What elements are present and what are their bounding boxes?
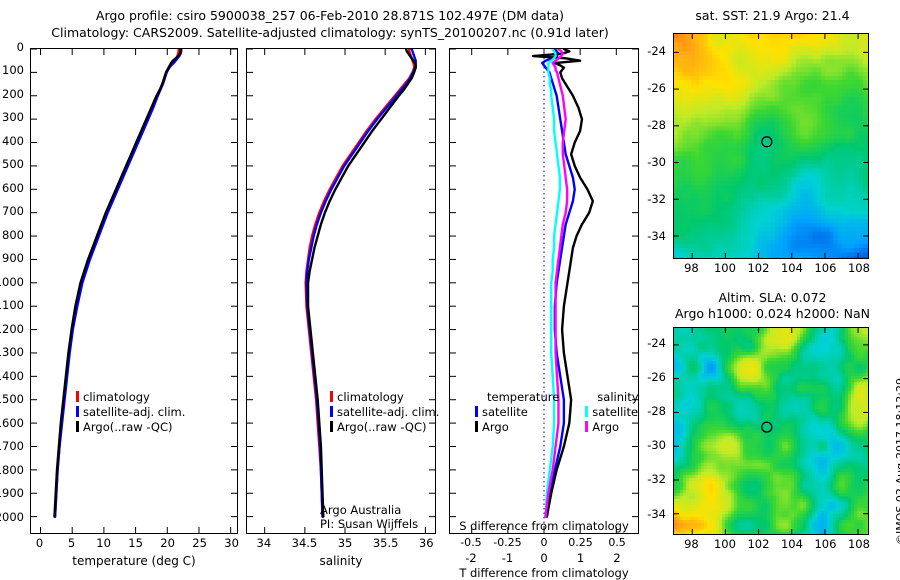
legend-color-swatch: [76, 391, 79, 402]
map-latitude-tick: -28: [647, 404, 666, 418]
temperature-axis-label: temperature (deg C): [30, 554, 238, 568]
depth-tick-label: 1500: [0, 392, 24, 406]
map-latitude-tick: -24: [647, 336, 666, 350]
depth-tick-label: 500: [2, 157, 24, 171]
map-longitude-tick: 108: [848, 261, 870, 275]
depth-tick-label: 700: [2, 204, 24, 218]
axis-tick-label: 35: [338, 536, 353, 550]
map-latitude-tick: -28: [647, 118, 666, 132]
legend-entry: Argo: [475, 420, 559, 435]
legend-entry: climatology: [330, 390, 439, 405]
axis-tick-label: -0.25: [493, 536, 521, 549]
legend-label: Argo: [482, 420, 509, 434]
map-longitude-tick: 106: [814, 261, 836, 275]
legend-color-swatch: [76, 421, 79, 432]
legend-label: satellite-adj. clim.: [83, 405, 185, 419]
depth-tick-label: 1800: [0, 463, 24, 477]
map-longitude-tick: 104: [781, 537, 803, 551]
axis-tick-label: 34: [257, 536, 272, 550]
sst-map-yaxis-ticks: -24-26-28-30-32-34: [640, 33, 671, 259]
legend-entry: satellite-adj. clim.: [76, 405, 185, 420]
legend-label: Argo: [592, 420, 619, 434]
argo-profile-figure: Argo profile: csiro 5900038_257 06-Feb-2…: [0, 0, 900, 580]
legend-entry: satellite: [585, 405, 638, 420]
depth-tick-label: 0: [17, 40, 24, 54]
depth-tick-label: 300: [2, 110, 24, 124]
legend-color-swatch: [585, 421, 588, 432]
axis-tick-label: 2: [613, 551, 620, 565]
depth-tick-label: 100: [2, 63, 24, 77]
legend-label: satellite-adj. clim.: [337, 405, 439, 419]
axis-tick-label: 35.5: [373, 536, 399, 550]
map-latitude-tick: -32: [647, 192, 666, 206]
sla-map[interactable]: [673, 327, 869, 535]
legend-group: salinitysatelliteArgo: [585, 390, 638, 435]
map-longitude-tick: 106: [814, 537, 836, 551]
map-latitude-tick: -34: [647, 507, 666, 521]
depth-tick-label: 1400: [0, 369, 24, 383]
depth-tick-label: 1600: [0, 416, 24, 430]
axis-tick-label: 36: [419, 536, 434, 550]
legend-label: satellite: [482, 405, 528, 419]
figure-title-line1: Argo profile: csiro 5900038_257 06-Feb-2…: [0, 8, 660, 23]
sla-map-xaxis-ticks: 98100102104106108: [673, 537, 869, 552]
axis-tick-label: 0: [36, 536, 43, 550]
legend-color-swatch: [475, 406, 478, 417]
axis-tick-label: 0.5: [608, 536, 626, 549]
axis-tick-label: 1: [577, 551, 584, 565]
temperature-legend: climatologysatellite-adj. clim.Argo(..ra…: [76, 390, 185, 435]
salinity-axis-label: salinity: [246, 554, 436, 568]
sst-map-title: sat. SST: 21.9 Argo: 21.4: [665, 8, 880, 23]
legend-color-swatch: [76, 406, 79, 417]
sla-map-yaxis-ticks: -24-26-28-30-32-34: [640, 327, 671, 535]
axis-tick-label: 0: [541, 536, 548, 549]
depth-tick-label: 1300: [0, 345, 24, 359]
map-longitude-tick: 102: [747, 537, 769, 551]
legend-label: Argo(..raw -QC): [83, 420, 173, 434]
attribution-line1: Argo Australia: [320, 503, 401, 517]
depth-tick-label: 2000: [0, 510, 24, 524]
depth-tick-label: 800: [2, 228, 24, 242]
depth-tick-label: 1200: [0, 322, 24, 336]
legend-label: climatology: [337, 390, 404, 404]
legend-color-swatch: [475, 421, 478, 432]
axis-tick-label: -1: [502, 551, 513, 565]
salinity-xaxis-ticks: 3434.53535.536: [246, 536, 436, 552]
axis-tick-label: 34.5: [292, 536, 318, 550]
legend-entry: satellite: [475, 405, 559, 420]
axis-tick-label: 0: [540, 551, 547, 565]
depth-tick-label: 1100: [0, 298, 24, 312]
legend-label: satellite: [592, 405, 638, 419]
map-longitude-tick: 108: [848, 537, 870, 551]
map-latitude-tick: -30: [647, 438, 666, 452]
depth-tick-label: 200: [2, 87, 24, 101]
map-latitude-tick: -26: [647, 81, 666, 95]
legend-label: Argo(..raw -QC): [337, 420, 427, 434]
axis-tick-label: 20: [160, 536, 175, 550]
map-latitude-tick: -26: [647, 370, 666, 384]
temperature-xaxis-ticks: 051015202530: [30, 536, 238, 552]
map-latitude-tick: -34: [647, 229, 666, 243]
legend-entry: Argo: [585, 420, 638, 435]
depth-tick-label: 1700: [0, 439, 24, 453]
axis-tick-label: 25: [192, 536, 207, 550]
axis-tick-label: 5: [68, 536, 75, 550]
legend-group: temperaturesatelliteArgo: [475, 390, 559, 435]
sst-map[interactable]: [673, 33, 869, 259]
map-longitude-tick: 104: [781, 261, 803, 275]
legend-entry: Argo(..raw -QC): [330, 420, 439, 435]
map-longitude-tick: 102: [747, 261, 769, 275]
attribution-line2: PI: Susan Wijffels: [320, 517, 418, 531]
salinity-panel[interactable]: [246, 48, 436, 534]
legend-color-swatch: [330, 406, 333, 417]
axis-tick-label: 15: [128, 536, 143, 550]
axis-tick-label: -2: [465, 551, 476, 565]
difference-temperature-axis-label: T difference from climatology: [441, 566, 647, 580]
depth-tick-label: 900: [2, 251, 24, 265]
temperature-yaxis-ticks: 0100200300400500600700800900100011001200…: [0, 48, 28, 534]
legend-color-swatch: [585, 406, 588, 417]
salinity-legend: climatologysatellite-adj. clim.Argo(..ra…: [330, 390, 439, 435]
map-latitude-tick: -32: [647, 472, 666, 486]
difference-salinity-axis-label: S difference from climatology: [441, 519, 647, 533]
legend-group-heading: temperature: [487, 390, 559, 405]
legend-group-heading: salinity: [597, 390, 638, 405]
map-longitude-tick: 98: [684, 261, 699, 275]
axis-tick-label: 0.25: [568, 536, 593, 549]
map-latitude-tick: -24: [647, 44, 666, 58]
legend-entry: climatology: [76, 390, 185, 405]
depth-tick-label: 1900: [0, 486, 24, 500]
legend-color-swatch: [330, 391, 333, 402]
map-longitude-tick: 100: [714, 261, 736, 275]
depth-tick-label: 1000: [0, 275, 24, 289]
map-longitude-tick: 98: [684, 537, 699, 551]
difference-panel[interactable]: [449, 48, 639, 534]
map-latitude-tick: -30: [647, 155, 666, 169]
axis-tick-label: -0.5: [460, 536, 481, 549]
difference-legend: temperaturesatelliteArgosalinitysatellit…: [475, 390, 639, 435]
imos-credit: ©IMOS 02-Aug-2017 18:12:29: [894, 378, 900, 545]
axis-tick-label: 10: [96, 536, 111, 550]
sla-map-title-line2: Argo h1000: 0.024 h2000: NaN: [655, 306, 890, 321]
depth-tick-label: 400: [2, 134, 24, 148]
figure-title-line2: Climatology: CARS2009. Satellite-adjuste…: [0, 25, 660, 40]
temperature-panel[interactable]: [30, 48, 238, 534]
legend-entry: satellite-adj. clim.: [330, 405, 439, 420]
difference-temperature-ticks: -2-1012: [449, 551, 639, 565]
sla-map-title-line1: Altim. SLA: 0.072: [665, 290, 880, 305]
sst-map-xaxis-ticks: 98100102104106108: [673, 261, 869, 276]
difference-salinity-ticks: -0.5-0.2500.250.5: [449, 536, 639, 550]
legend-entry: Argo(..raw -QC): [76, 420, 185, 435]
map-longitude-tick: 100: [714, 537, 736, 551]
axis-tick-label: 30: [224, 536, 239, 550]
legend-color-swatch: [330, 421, 333, 432]
legend-label: climatology: [83, 390, 150, 404]
depth-tick-label: 600: [2, 181, 24, 195]
